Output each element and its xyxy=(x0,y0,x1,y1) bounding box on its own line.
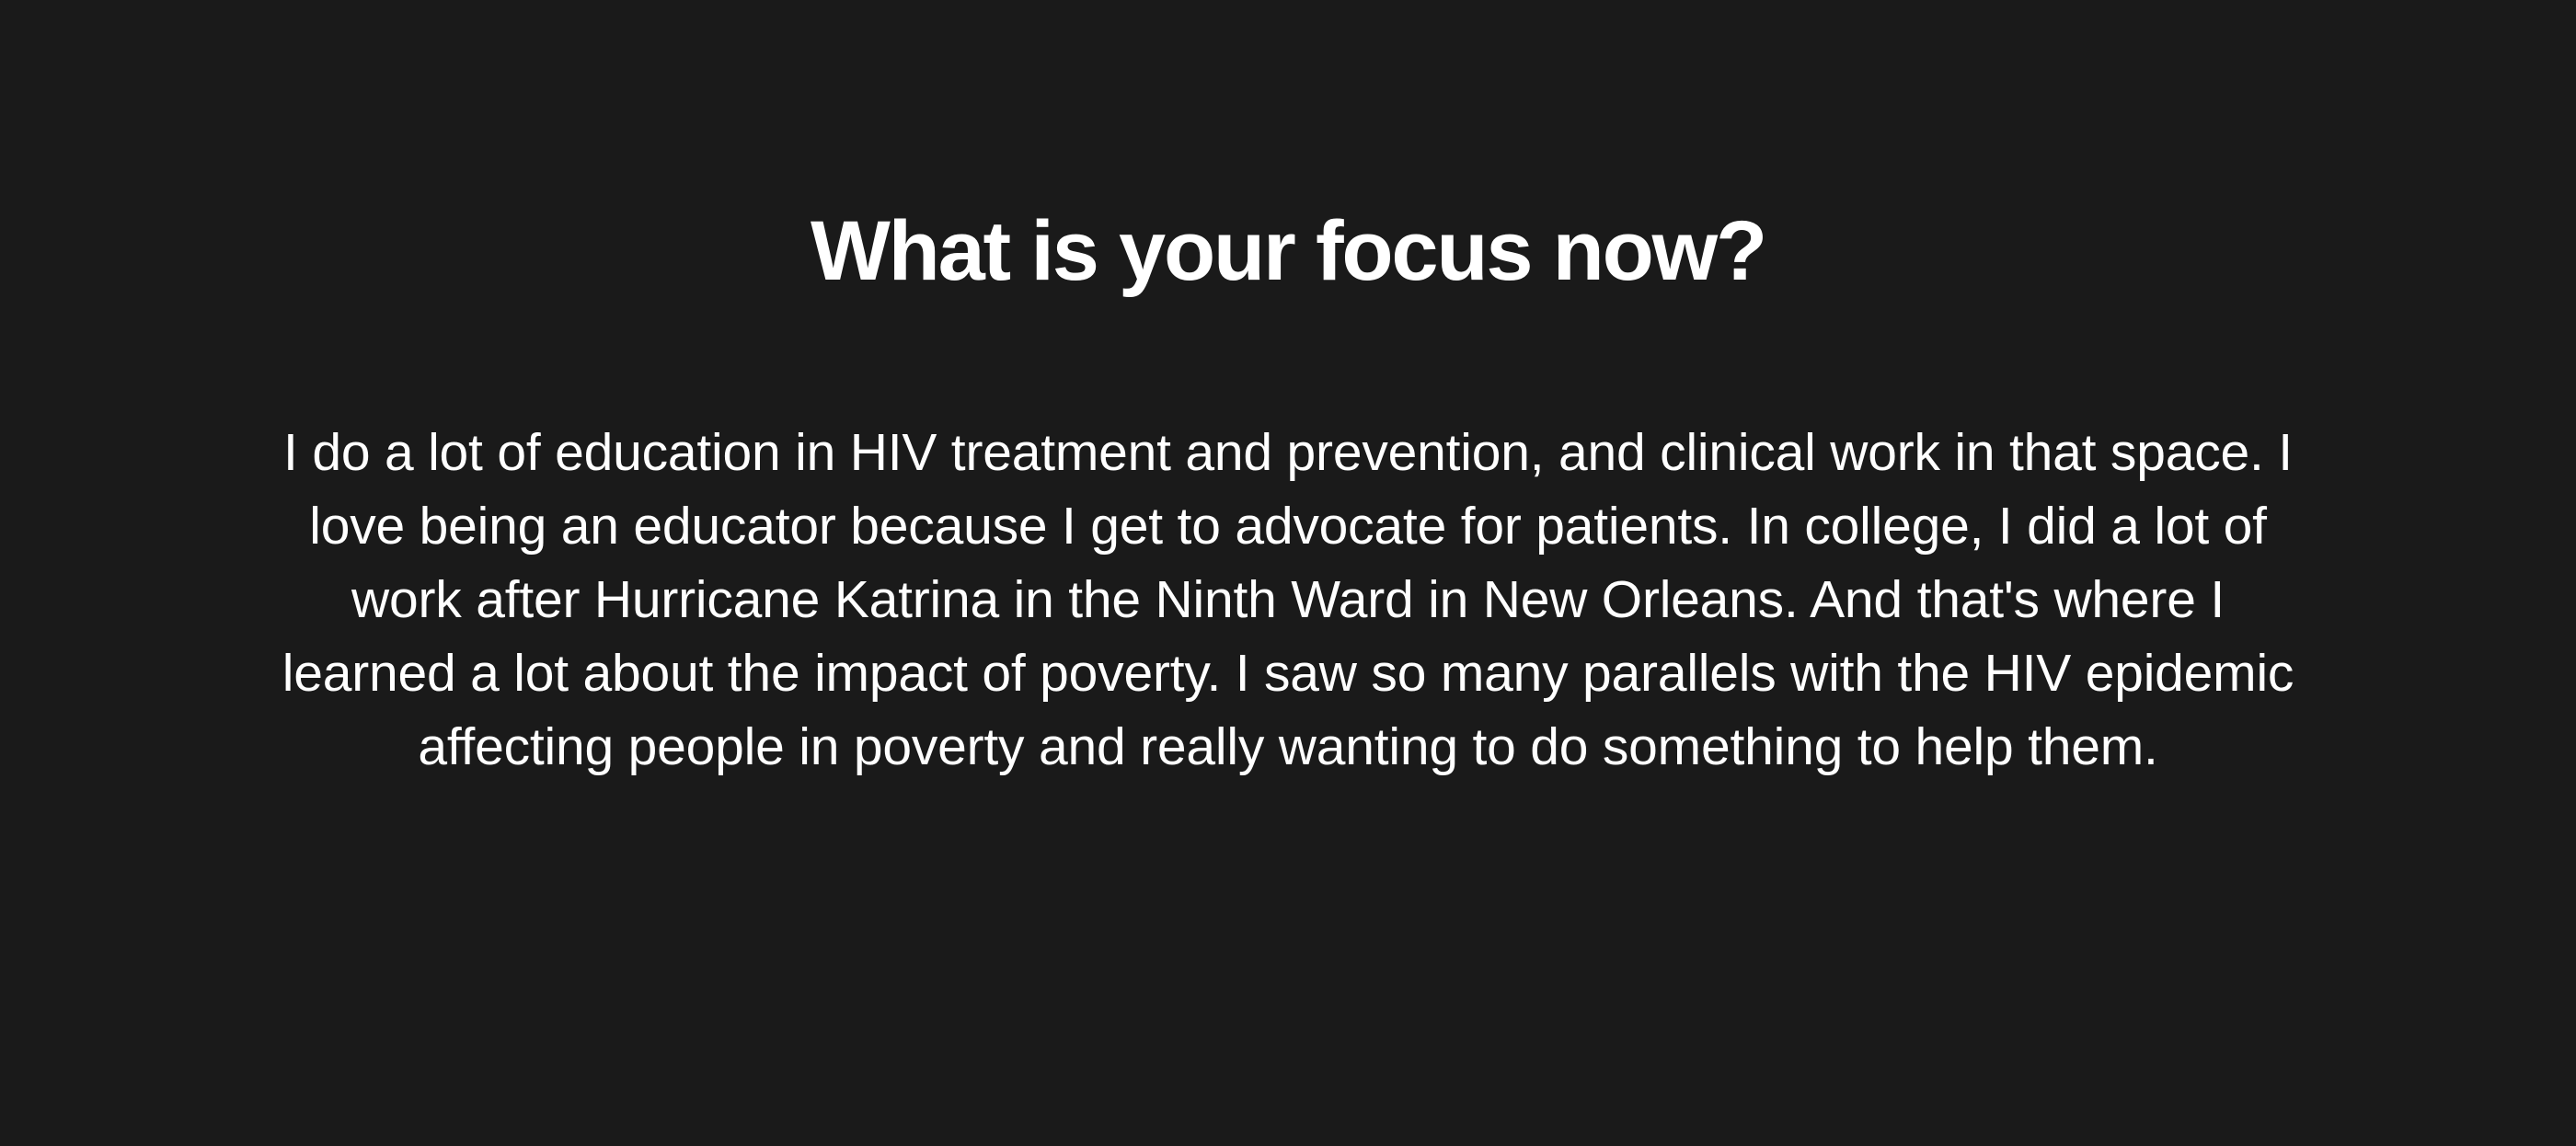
question-heading: What is your focus now? xyxy=(0,206,2576,297)
qa-card: What is your focus now? I do a lot of ed… xyxy=(0,0,2576,1146)
answer-paragraph: I do a lot of education in HIV treatment… xyxy=(276,416,2300,784)
